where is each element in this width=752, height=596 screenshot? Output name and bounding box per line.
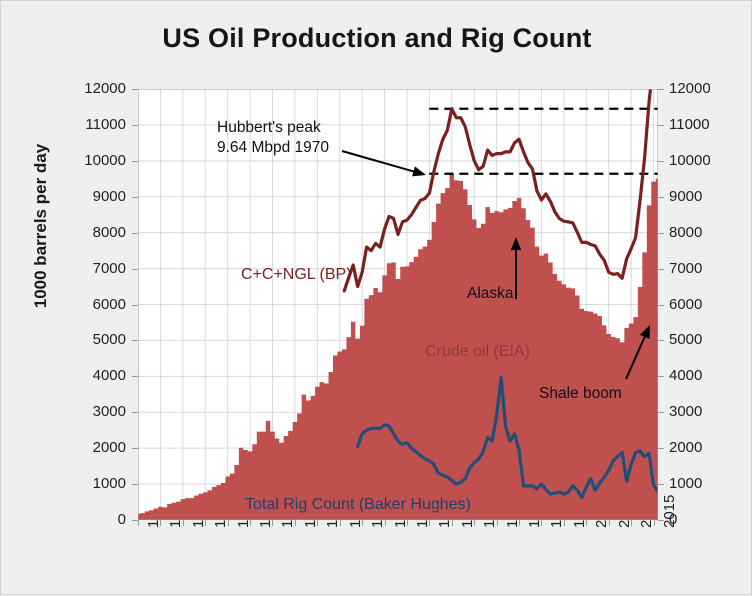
- x-tick-label: 2015: [661, 495, 678, 528]
- x-tick-mark: [250, 520, 251, 526]
- x-tick-mark: [429, 520, 430, 526]
- y-tick-mark: [658, 305, 664, 306]
- plot-svg: [138, 89, 658, 520]
- y-tick-mark: [132, 125, 138, 126]
- y-tick-label-left: 6000: [93, 297, 126, 313]
- x-tick-mark: [228, 520, 229, 526]
- y-tick-label-left: 0: [118, 512, 126, 528]
- y-tick-label-right: 11000: [669, 117, 710, 133]
- y-tick-mark: [658, 125, 664, 126]
- y-tick-mark: [132, 233, 138, 234]
- y-tick-label-right: 10000: [669, 153, 711, 169]
- y-tick-mark: [658, 484, 664, 485]
- y-tick-mark: [658, 376, 664, 377]
- y-tick-label-right: 7000: [669, 261, 702, 277]
- y-tick-mark: [132, 197, 138, 198]
- y-axis-right: 0100020003000400050006000700080009000100…: [669, 1, 739, 596]
- x-tick-mark: [160, 520, 161, 526]
- x-tick-mark: [317, 520, 318, 526]
- x-tick-mark: [586, 520, 587, 526]
- y-tick-label-left: 10000: [84, 153, 126, 169]
- y-axis-left: 0100020003000400050006000700080009000100…: [41, 1, 126, 596]
- y-tick-mark: [132, 305, 138, 306]
- annotation-ccngl-bp: C+C+NGL (BP): [241, 265, 352, 285]
- x-tick-mark: [654, 520, 655, 526]
- x-tick-mark: [295, 520, 296, 526]
- y-tick-label-left: 4000: [93, 368, 126, 384]
- y-tick-label-left: 1000: [93, 476, 126, 492]
- plot-area: [138, 89, 658, 520]
- annotation-alaska: Alaska: [467, 284, 514, 304]
- y-tick-mark: [658, 269, 664, 270]
- annotation-shale-boom: Shale boom: [539, 384, 622, 404]
- y-tick-label-left: 5000: [93, 332, 126, 348]
- y-tick-mark: [658, 197, 664, 198]
- annotation-crude-oil-eia: Crude oil (EIA): [425, 342, 530, 362]
- y-tick-label-left: 3000: [93, 404, 126, 420]
- annotation-hubbert-peak: Hubbert's peak 9.64 Mbpd 1970: [217, 118, 329, 158]
- y-tick-label-left: 9000: [93, 189, 126, 205]
- x-tick-mark: [407, 520, 408, 526]
- y-tick-mark: [132, 89, 138, 90]
- y-tick-mark: [658, 233, 664, 234]
- y-tick-label-left: 8000: [93, 225, 126, 241]
- y-tick-mark: [132, 269, 138, 270]
- x-tick-mark: [183, 520, 184, 526]
- y-tick-mark: [658, 448, 664, 449]
- y-tick-label-left: 7000: [93, 261, 126, 277]
- y-tick-mark: [132, 520, 138, 521]
- x-tick-mark: [452, 520, 453, 526]
- y-tick-label-right: 12000: [669, 81, 711, 97]
- x-tick-mark: [564, 520, 565, 526]
- y-tick-label-right: 2000: [669, 440, 702, 456]
- y-tick-mark: [658, 340, 664, 341]
- x-tick-mark: [272, 520, 273, 526]
- y-tick-label-right: 3000: [669, 404, 702, 420]
- x-tick-mark: [138, 520, 139, 526]
- reference-lines: [429, 109, 658, 174]
- y-tick-mark: [132, 376, 138, 377]
- x-tick-mark: [541, 520, 542, 526]
- y-tick-label-right: 9000: [669, 189, 702, 205]
- y-tick-mark: [658, 161, 664, 162]
- x-tick-mark: [631, 520, 632, 526]
- y-tick-mark: [132, 484, 138, 485]
- y-tick-mark: [132, 340, 138, 341]
- y-tick-label-right: 1000: [669, 476, 702, 492]
- x-tick-mark: [497, 520, 498, 526]
- y-tick-mark: [658, 89, 664, 90]
- x-tick-mark: [609, 520, 610, 526]
- x-tick-mark: [385, 520, 386, 526]
- x-tick-mark: [340, 520, 341, 526]
- y-tick-mark: [658, 412, 664, 413]
- annotation-total-rig-count: Total Rig Count (Baker Hughes): [245, 495, 471, 515]
- y-tick-label-right: 4000: [669, 368, 702, 384]
- x-tick-mark: [474, 520, 475, 526]
- y-tick-mark: [132, 161, 138, 162]
- y-tick-mark: [132, 412, 138, 413]
- y-tick-label-right: 8000: [669, 225, 702, 241]
- y-tick-label-left: 2000: [93, 440, 126, 456]
- y-tick-mark: [132, 448, 138, 449]
- x-tick-mark: [205, 520, 206, 526]
- y-tick-label-right: 5000: [669, 332, 702, 348]
- y-tick-label-left: 11000: [85, 117, 126, 133]
- x-tick-mark: [519, 520, 520, 526]
- chart-canvas: US Oil Production and Rig Count 1000 bar…: [0, 0, 752, 595]
- x-tick-mark: [362, 520, 363, 526]
- y-tick-mark: [658, 520, 664, 521]
- y-tick-label-left: 12000: [84, 81, 126, 97]
- series-crude-oil-eia-area: [138, 174, 658, 520]
- y-tick-label-right: 6000: [669, 297, 702, 313]
